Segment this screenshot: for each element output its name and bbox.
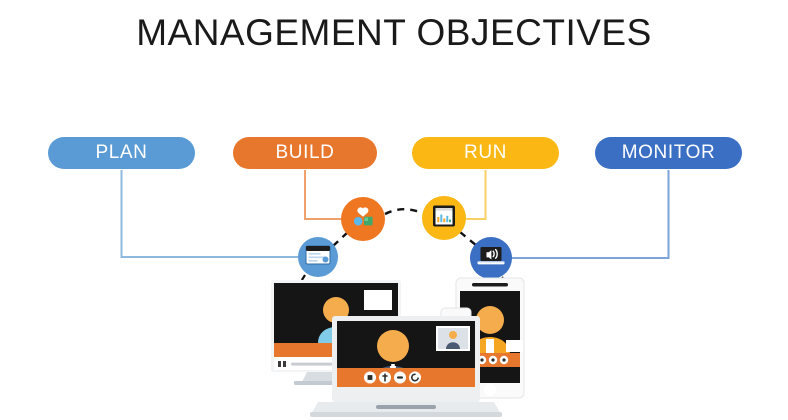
page-title: MANAGEMENT OBJECTIVES: [0, 12, 788, 54]
phase-pill-run-label: RUN: [464, 142, 507, 164]
slide-canvas: MANAGEMENT OBJECTIVES PLAN BUILD RUN MON…: [0, 0, 788, 420]
app-blocks-icon: [351, 205, 375, 234]
dashed-arc-build-run: [385, 209, 422, 214]
phase-pill-build[interactable]: BUILD: [233, 137, 377, 169]
connector-build: [305, 170, 341, 219]
device-illustration-group: [250, 260, 550, 420]
phase-pill-monitor[interactable]: MONITOR: [595, 137, 742, 169]
connector-monitor: [512, 170, 669, 258]
phase-pill-monitor-label: MONITOR: [622, 142, 716, 164]
node-run[interactable]: [422, 196, 466, 240]
phase-pill-plan[interactable]: PLAN: [48, 137, 195, 169]
phase-pill-run[interactable]: RUN: [412, 137, 559, 169]
phase-pill-plan-label: PLAN: [95, 142, 147, 164]
dashboard-monitor-icon: [431, 203, 457, 234]
node-build[interactable]: [341, 197, 385, 241]
laptop: [310, 316, 502, 417]
connector-run: [466, 170, 486, 219]
phase-pill-build-label: BUILD: [276, 142, 335, 164]
connector-plan: [122, 170, 299, 257]
